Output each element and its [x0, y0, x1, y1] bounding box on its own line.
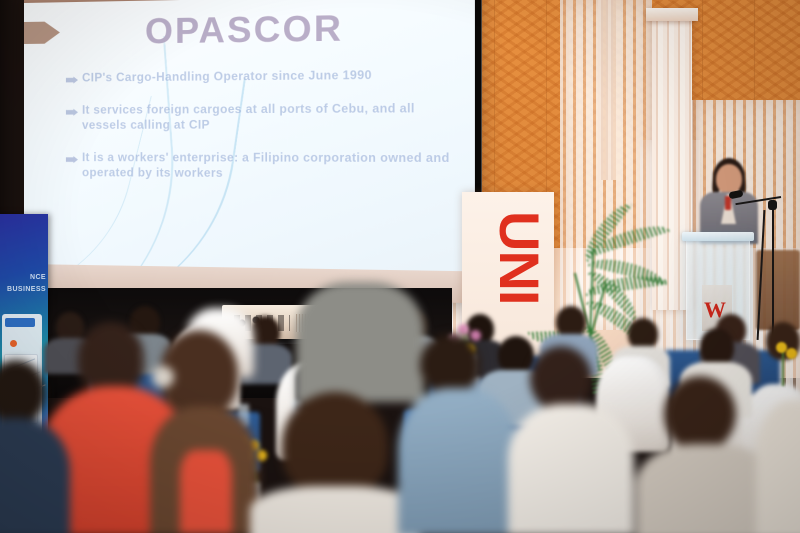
mic-stand-joint: [768, 200, 777, 210]
flower-bloom: [470, 330, 481, 341]
banner-left-label-2: BUSINESS: [0, 284, 46, 295]
arrow-bullet-icon: [66, 156, 78, 163]
attendee-head: [664, 376, 736, 452]
attendee-head: [700, 328, 734, 366]
screen-edge-top: [24, 0, 475, 3]
attendee-torso: [398, 388, 518, 533]
pilaster-secondary: [598, 0, 616, 180]
slide-bullet-list: CIP's Cargo-Handling Operator since June…: [66, 68, 450, 201]
attendee-head: [78, 322, 144, 394]
attendee-head: [0, 360, 46, 426]
slide-title: OPASCOR: [24, 6, 475, 54]
projection-screen: OPASCOR CIP's Cargo-Handling Operator si…: [24, 0, 475, 303]
list-item: CIP's Cargo-Handling Operator since June…: [66, 68, 450, 87]
list-item: It services foreign cargoes at all ports…: [66, 102, 450, 134]
list-item: It is a workers' enterprise: a Filipino …: [66, 151, 450, 183]
attendee-head: [282, 392, 388, 496]
flower-stem: [782, 350, 784, 386]
attendee-torso: [636, 444, 776, 533]
arrow-bullet-icon: [66, 109, 78, 116]
attendee-torso: [296, 282, 424, 402]
presentation-photo-scene: OPASCOR CIP's Cargo-Handling Operator si…: [0, 0, 800, 533]
podium-top-surface: [682, 232, 754, 241]
attendee-torso: [250, 486, 420, 533]
slide-bullet-text: It is a workers' enterprise: a Filipino …: [82, 151, 450, 183]
flower-bloom: [458, 324, 469, 335]
banner-left-label-1: NCE: [0, 272, 46, 283]
flower-bloom: [786, 348, 797, 359]
flower-centerpiece: [760, 330, 800, 400]
slide-bullet-text: CIP's Cargo-Handling Operator since June…: [82, 69, 372, 87]
attendee-head: [420, 334, 480, 396]
hair-tie: [152, 366, 174, 388]
screen-surface: OPASCOR CIP's Cargo-Handling Operator si…: [24, 0, 475, 303]
attendee-torso: [508, 404, 634, 533]
pilaster-capital: [646, 8, 698, 21]
slide-bullet-text: It services foreign cargoes at all ports…: [82, 102, 450, 134]
arrow-bullet-icon: [66, 77, 78, 84]
attendee-scarf: [180, 450, 232, 533]
audience-area: [0, 300, 800, 533]
attendee-head: [530, 346, 592, 412]
